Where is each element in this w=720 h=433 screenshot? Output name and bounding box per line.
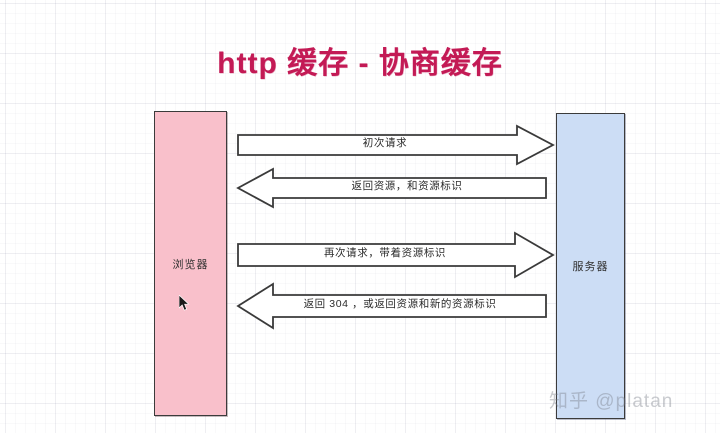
- message-label-2: 返回资源，和资源标识: [276, 178, 538, 193]
- node-browser[interactable]: 浏览器: [154, 111, 227, 416]
- node-server[interactable]: 服务器: [556, 113, 625, 419]
- watermark: 知乎 @platan: [549, 386, 673, 413]
- node-browser-label: 浏览器: [173, 256, 209, 272]
- message-label-1: 初次请求: [240, 135, 530, 150]
- diagram-canvas: http 缓存 - 协商缓存 浏览器 服务器 初次请求 返回资源，和资源标识 再…: [0, 0, 720, 433]
- message-label-4: 返回 304 ，或返回资源和新的资源标识: [262, 296, 538, 311]
- message-label-3: 再次请求，带着资源标识: [240, 245, 530, 260]
- page-title: http 缓存 - 协商缓存: [0, 38, 720, 82]
- node-server-label: 服务器: [573, 258, 609, 274]
